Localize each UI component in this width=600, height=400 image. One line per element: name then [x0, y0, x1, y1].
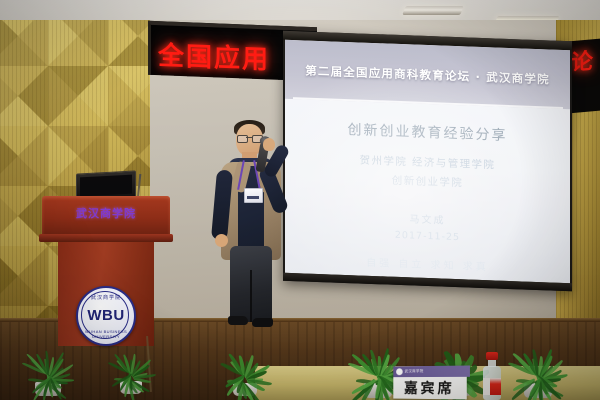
speaker-hand-left — [215, 234, 228, 247]
podium-top: 武汉商学院 — [42, 196, 170, 236]
slide-org-line2: 创新创业学院 — [392, 173, 463, 191]
card-band-text: 武汉商学院 — [405, 369, 424, 374]
speaker-hand-right — [263, 138, 275, 151]
podium: 武汉商学院 武汉商学院 WBU WUHAN BUSINESS UNIVERSIT… — [42, 196, 170, 346]
projection-screen: 第二届全国应用商科教育论坛 · 武汉商学院 创新创业教育经验分享 贺州学院 经济… — [285, 40, 570, 283]
podium-ledge — [39, 234, 173, 242]
speaker-shoe-right — [252, 318, 273, 327]
card-logo-icon — [396, 368, 403, 375]
slide-title: 创新创业教育经验分享 — [348, 119, 508, 145]
podium-name-text: 武汉商学院 — [50, 205, 162, 221]
projection-screen-frame: 第二届全国应用商科教育论坛 · 武汉商学院 创新创业教育经验分享 贺州学院 经济… — [283, 31, 572, 292]
card-header-band: 武汉商学院 — [393, 365, 470, 377]
guest-seat-card: 武汉商学院 嘉宾席 — [393, 366, 467, 400]
water-bottle — [482, 352, 502, 400]
speaker-person — [206, 118, 298, 330]
bottle-label-white — [483, 378, 490, 395]
emblem-acronym: WBU — [78, 307, 134, 324]
potted-plant — [96, 332, 166, 394]
led-banner-text-right: 论 — [571, 51, 593, 75]
speaker-trousers — [230, 246, 272, 322]
speaker-shoe-left — [228, 316, 248, 325]
trouser-leg-split — [250, 270, 252, 322]
emblem-chinese-text: 武汉商学院 — [78, 294, 134, 301]
led-banner-text: 全国应用 — [158, 35, 270, 76]
ceiling-light-icon — [402, 6, 464, 15]
slide-org-line1: 贺州学院 经济与管理学院 — [360, 153, 496, 173]
slide-speaker-name: 马文成 — [410, 210, 446, 226]
potted-plant — [206, 334, 284, 396]
glasses-icon — [237, 135, 262, 141]
conference-photo: 全国应用 论 第二届全国应用商科教育论坛 · 武汉商学院 创新创业教育经验分享 … — [0, 0, 600, 400]
slide-date: 2017-11-25 — [395, 230, 460, 243]
bottle-cap — [486, 352, 498, 360]
potted-plant — [494, 324, 582, 398]
name-badge — [244, 188, 263, 203]
slide-header-text: 第二届全国应用商科教育论坛 · 武汉商学院 — [305, 62, 550, 87]
potted-plant — [6, 330, 90, 396]
badge-stripe — [247, 196, 259, 199]
bottle-neck — [488, 360, 496, 367]
laptop-screen — [80, 175, 132, 197]
guest-card-text: 嘉宾席 — [393, 378, 467, 399]
